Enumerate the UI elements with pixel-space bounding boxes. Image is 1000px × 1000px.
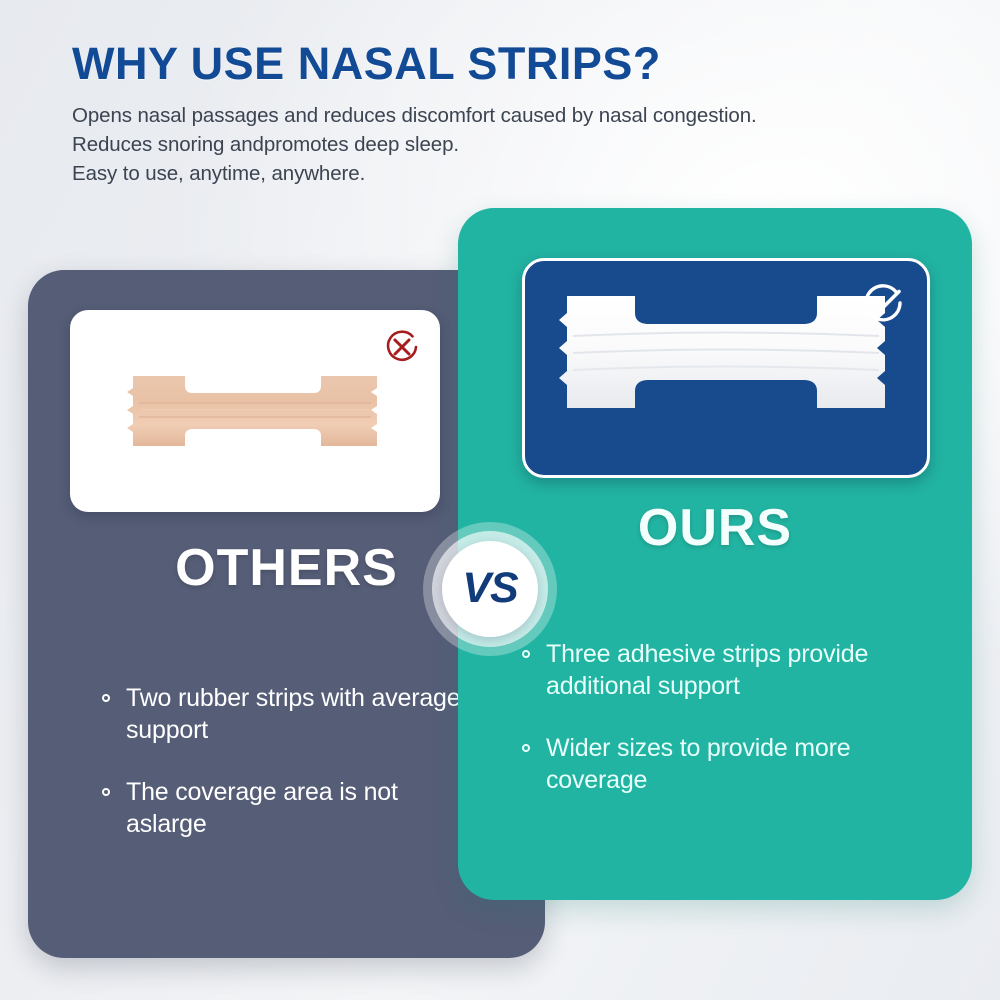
subtitle-line-2: Reduces snoring andpromotes deep sleep. — [72, 130, 932, 159]
subtitle-line-1: Opens nasal passages and reduces discomf… — [72, 101, 932, 130]
list-item: Three adhesive strips provide additional… — [520, 638, 940, 702]
header: WHY USE NASAL STRIPS? Opens nasal passag… — [72, 40, 932, 189]
vs-badge: VS — [423, 522, 557, 656]
vs-core: VS — [442, 541, 538, 637]
ours-bullet-list: Three adhesive strips provide additional… — [520, 638, 940, 826]
cross-circle-icon — [382, 327, 422, 367]
list-item: Two rubber strips with average support — [100, 682, 472, 746]
others-bullet-list: Two rubber strips with average support T… — [100, 682, 472, 870]
list-item: Wider sizes to provide more coverage — [520, 732, 940, 796]
list-item: The coverage area is not aslarge — [100, 776, 472, 840]
page-title: WHY USE NASAL STRIPS? — [72, 40, 932, 87]
ours-product-panel — [522, 258, 930, 478]
infographic-canvas: WHY USE NASAL STRIPS? Opens nasal passag… — [0, 0, 1000, 1000]
check-circle-icon — [859, 279, 907, 327]
others-product-panel — [70, 310, 440, 512]
vs-label: VS — [462, 564, 517, 613]
subtitle-line-3: Easy to use, anytime, anywhere. — [72, 159, 932, 188]
